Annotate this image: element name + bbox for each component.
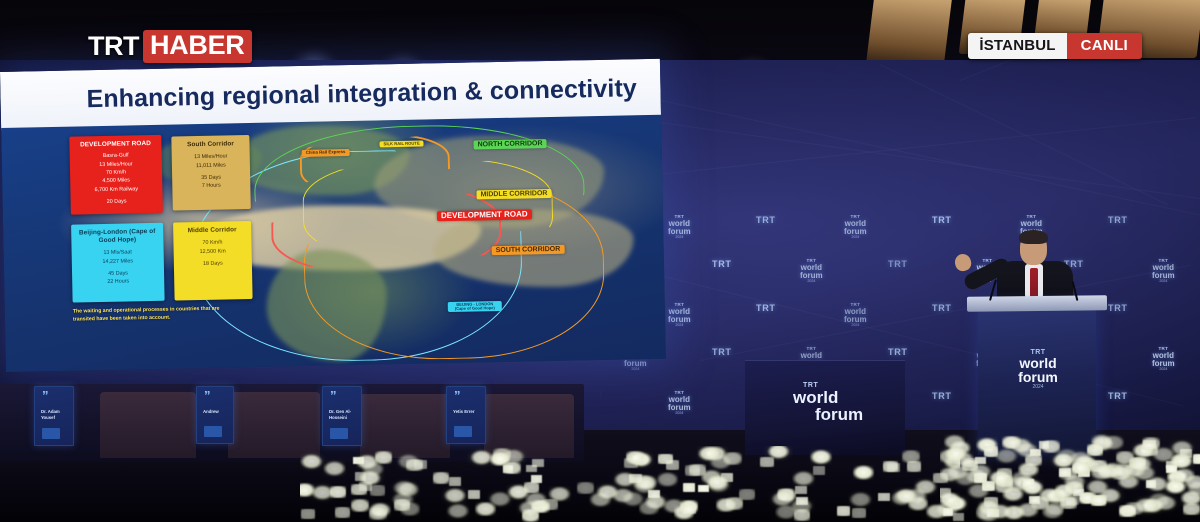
wall-world-forum-logo: TRTworldforum2024 bbox=[844, 303, 867, 328]
quote-icon: ” bbox=[42, 392, 49, 400]
panelist-name: Andrew bbox=[203, 409, 229, 415]
info-card-middle-corridor: Middle Corridor 70 Km/h 12,500 Km 18 Day… bbox=[173, 221, 253, 301]
slide-map: China Rail Express SILK RAIL ROUTE NORTH… bbox=[1, 115, 666, 372]
channel-logo: TRT HABER bbox=[88, 30, 252, 63]
flower bbox=[1091, 495, 1106, 506]
card-line: 13 Miles/Hour bbox=[175, 153, 247, 161]
card-line: 13 Miles/Hour bbox=[73, 160, 159, 169]
flower bbox=[1146, 480, 1157, 488]
flower bbox=[666, 460, 679, 469]
forum-wordmark: forum bbox=[998, 370, 1078, 384]
flower bbox=[1185, 475, 1200, 490]
wall-world-forum-logo: TRTworldforum2024 bbox=[800, 259, 823, 284]
panelist-name: Dr. Adam Yousef bbox=[41, 409, 69, 421]
wall-trt-logo: TRT bbox=[1108, 391, 1128, 401]
flower bbox=[1152, 446, 1175, 462]
flower bbox=[810, 449, 832, 465]
flower bbox=[531, 475, 542, 483]
card-title: Middle Corridor bbox=[176, 226, 248, 236]
flower bbox=[683, 504, 697, 514]
card-duration: 45 Days bbox=[75, 269, 161, 278]
wall-trt-logo: TRT bbox=[756, 215, 776, 225]
card-title: DEVELOPMENT ROAD bbox=[72, 140, 158, 150]
quote-icon: ” bbox=[454, 392, 461, 400]
namecard-logo bbox=[204, 426, 222, 437]
world-wordmark: world bbox=[998, 356, 1078, 370]
card-line: 6,700 Km Railway bbox=[73, 186, 159, 195]
flower bbox=[300, 452, 325, 471]
panel-chair bbox=[100, 392, 196, 458]
panelist-name: Dr. Gen Al-Hosseini bbox=[329, 409, 357, 421]
namecard-logo bbox=[454, 426, 472, 437]
slide-footnote: The waiting and operational processes in… bbox=[73, 305, 241, 324]
card-line: 12,500 Km bbox=[177, 248, 249, 256]
wall-world-forum-logo: TRTworldforum2024 bbox=[1152, 259, 1175, 284]
flower bbox=[394, 499, 410, 510]
card-duration: 18 Days bbox=[177, 260, 249, 268]
quote-icon: ” bbox=[330, 392, 337, 400]
flower bbox=[525, 492, 547, 508]
flower bbox=[837, 506, 850, 515]
wall-trt-logo: TRT bbox=[932, 391, 952, 401]
wall-world-forum-logo: TRTworldforum2024 bbox=[668, 215, 691, 240]
flower bbox=[1085, 478, 1110, 496]
flower bbox=[697, 446, 721, 462]
card-line: 4,500 Miles bbox=[73, 177, 159, 186]
flower bbox=[390, 478, 418, 498]
flower bbox=[475, 502, 496, 517]
card-title: Beijing-London (Cape of Good Hope) bbox=[74, 228, 160, 246]
flower bbox=[739, 489, 755, 501]
flower bbox=[944, 446, 967, 462]
map-label-south-corridor: SOUTH CORRIDOR bbox=[492, 245, 565, 256]
flower bbox=[848, 490, 873, 508]
flower bbox=[795, 486, 807, 495]
wall-trt-logo: TRT bbox=[1108, 215, 1128, 225]
card-duration: 7 Hours bbox=[175, 182, 247, 190]
podium-top bbox=[967, 295, 1107, 311]
map-label-beijing-london: BEIJING - LONDON (Cape of Good Hope) bbox=[448, 301, 502, 312]
namecard-panelist-2: ” Andrew bbox=[196, 386, 234, 444]
flower bbox=[301, 509, 315, 519]
flower bbox=[446, 502, 471, 520]
flower bbox=[433, 472, 450, 484]
quote-icon: ” bbox=[204, 392, 211, 400]
flower bbox=[449, 477, 461, 486]
stage-front-logo: TRT world forum bbox=[793, 382, 863, 423]
flower bbox=[1055, 484, 1075, 498]
card-duration: 35 Days bbox=[175, 174, 247, 182]
flower bbox=[629, 474, 641, 483]
flower bbox=[764, 446, 793, 462]
flower bbox=[370, 485, 386, 496]
haber-wordmark: HABER bbox=[143, 30, 252, 63]
flower bbox=[1111, 467, 1130, 481]
info-card-south-corridor: South Corridor 13 Miles/Hour 11,011 Mile… bbox=[171, 135, 250, 211]
wall-trt-logo: TRT bbox=[712, 347, 732, 357]
flower bbox=[532, 459, 544, 468]
wall-trt-logo: TRT bbox=[932, 303, 952, 313]
flower bbox=[657, 472, 678, 487]
flower bbox=[716, 498, 736, 512]
card-title: South Corridor bbox=[174, 140, 246, 150]
flower bbox=[796, 497, 807, 505]
flower-arrangement bbox=[300, 446, 960, 522]
location-label: İSTANBUL bbox=[968, 33, 1066, 59]
namecard-logo bbox=[330, 428, 348, 439]
info-card-beijing-london: Beijing-London (Cape of Good Hope) 13 Ml… bbox=[71, 223, 165, 303]
flower bbox=[1166, 465, 1178, 473]
namecard-panelist-4: ” Yetis Errer bbox=[446, 386, 486, 444]
flower bbox=[1103, 435, 1123, 450]
card-subtitle: Basra-Gulf bbox=[73, 152, 159, 161]
card-line: 14,227 Miles bbox=[75, 258, 161, 267]
flower bbox=[330, 486, 346, 498]
flower-arrangement bbox=[940, 430, 1200, 522]
flower bbox=[1023, 479, 1034, 487]
flower bbox=[1072, 462, 1088, 473]
world-wordmark: world bbox=[793, 389, 863, 406]
card-line: 11,011 Miles bbox=[175, 162, 247, 170]
info-card-development-road: DEVELOPMENT ROAD Basra-Gulf 13 Miles/Hou… bbox=[69, 135, 163, 215]
card-line: 13 Mls/Saat bbox=[75, 249, 161, 258]
map-label-middle-corridor: MIDDLE CORRIDOR bbox=[476, 189, 551, 200]
podium-logo: TRT world forum 2024 bbox=[998, 349, 1078, 390]
flower bbox=[1193, 454, 1200, 464]
namecard-panelist-3: ” Dr. Gen Al-Hosseini bbox=[322, 386, 362, 446]
flower bbox=[1125, 502, 1143, 515]
flower bbox=[902, 450, 920, 463]
flower bbox=[940, 492, 960, 507]
flower bbox=[1015, 441, 1039, 459]
forum-wordmark: forum bbox=[815, 406, 863, 423]
namecard-panelist-1: ” Dr. Adam Yousef bbox=[34, 386, 74, 446]
flower bbox=[663, 498, 685, 514]
card-line: 70 Km/h bbox=[176, 239, 248, 247]
flower bbox=[503, 462, 521, 475]
panelist-name: Yetis Errer bbox=[453, 409, 481, 415]
flower bbox=[966, 482, 992, 500]
presentation-screen: Enhancing regional integration & connect… bbox=[0, 59, 666, 372]
flower bbox=[468, 490, 480, 499]
map-label-china-rail: China Rail Express bbox=[302, 149, 350, 157]
wall-trt-logo: TRT bbox=[932, 215, 952, 225]
wall-world-forum-logo: TRTworldforum2024 bbox=[668, 303, 691, 328]
slide-title: Enhancing regional integration & connect… bbox=[0, 74, 637, 116]
flower bbox=[913, 478, 938, 496]
flower bbox=[775, 504, 796, 519]
wall-world-forum-logo: TRTworldforum2024 bbox=[1152, 347, 1175, 372]
flower bbox=[335, 507, 350, 518]
flower bbox=[878, 493, 890, 502]
flower bbox=[1039, 441, 1049, 448]
card-duration: 20 Days bbox=[74, 198, 160, 207]
wall-trt-logo: TRT bbox=[888, 347, 908, 357]
flower bbox=[1042, 504, 1063, 519]
stage-front-panel: TRT world forum bbox=[745, 360, 905, 455]
flower bbox=[943, 508, 953, 515]
flower bbox=[1073, 489, 1083, 496]
flower bbox=[853, 465, 874, 480]
map-label-north-corridor: NORTH CORRIDOR bbox=[473, 139, 546, 150]
flower bbox=[975, 457, 986, 465]
flower bbox=[375, 451, 392, 464]
wall-world-forum-logo: TRTworldforum2024 bbox=[844, 215, 867, 240]
wall-trt-logo: TRT bbox=[888, 259, 908, 269]
flower bbox=[953, 513, 964, 521]
flower bbox=[683, 483, 696, 492]
wall-trt-logo: TRT bbox=[1108, 303, 1128, 313]
flower bbox=[369, 507, 387, 520]
broadcast-frame: TRTTRTworldforum2024TRTTRTworldforum2024… bbox=[0, 0, 1200, 522]
flower bbox=[621, 490, 645, 507]
wall-world-forum-logo: TRTworldforum2024 bbox=[668, 391, 691, 416]
live-bug: İSTANBUL CANLI bbox=[968, 33, 1142, 59]
wall-trt-logo: TRT bbox=[756, 303, 776, 313]
flower bbox=[626, 451, 645, 464]
flower bbox=[323, 460, 347, 477]
flower bbox=[698, 485, 708, 492]
live-badge: CANLI bbox=[1067, 33, 1142, 59]
card-line: 70 Km/h bbox=[73, 169, 159, 178]
card-duration: 22 Hours bbox=[75, 278, 161, 287]
trt-wordmark: TRT bbox=[88, 31, 139, 62]
wall-trt-logo: TRT bbox=[712, 259, 732, 269]
flower bbox=[887, 463, 900, 472]
flower bbox=[852, 508, 866, 518]
flower bbox=[723, 452, 742, 466]
flower bbox=[396, 452, 421, 470]
namecard-logo bbox=[42, 428, 60, 439]
flower bbox=[1017, 502, 1040, 518]
year-label: 2024 bbox=[998, 385, 1078, 390]
flower bbox=[984, 446, 999, 456]
flower bbox=[978, 507, 999, 522]
flower bbox=[351, 499, 369, 512]
